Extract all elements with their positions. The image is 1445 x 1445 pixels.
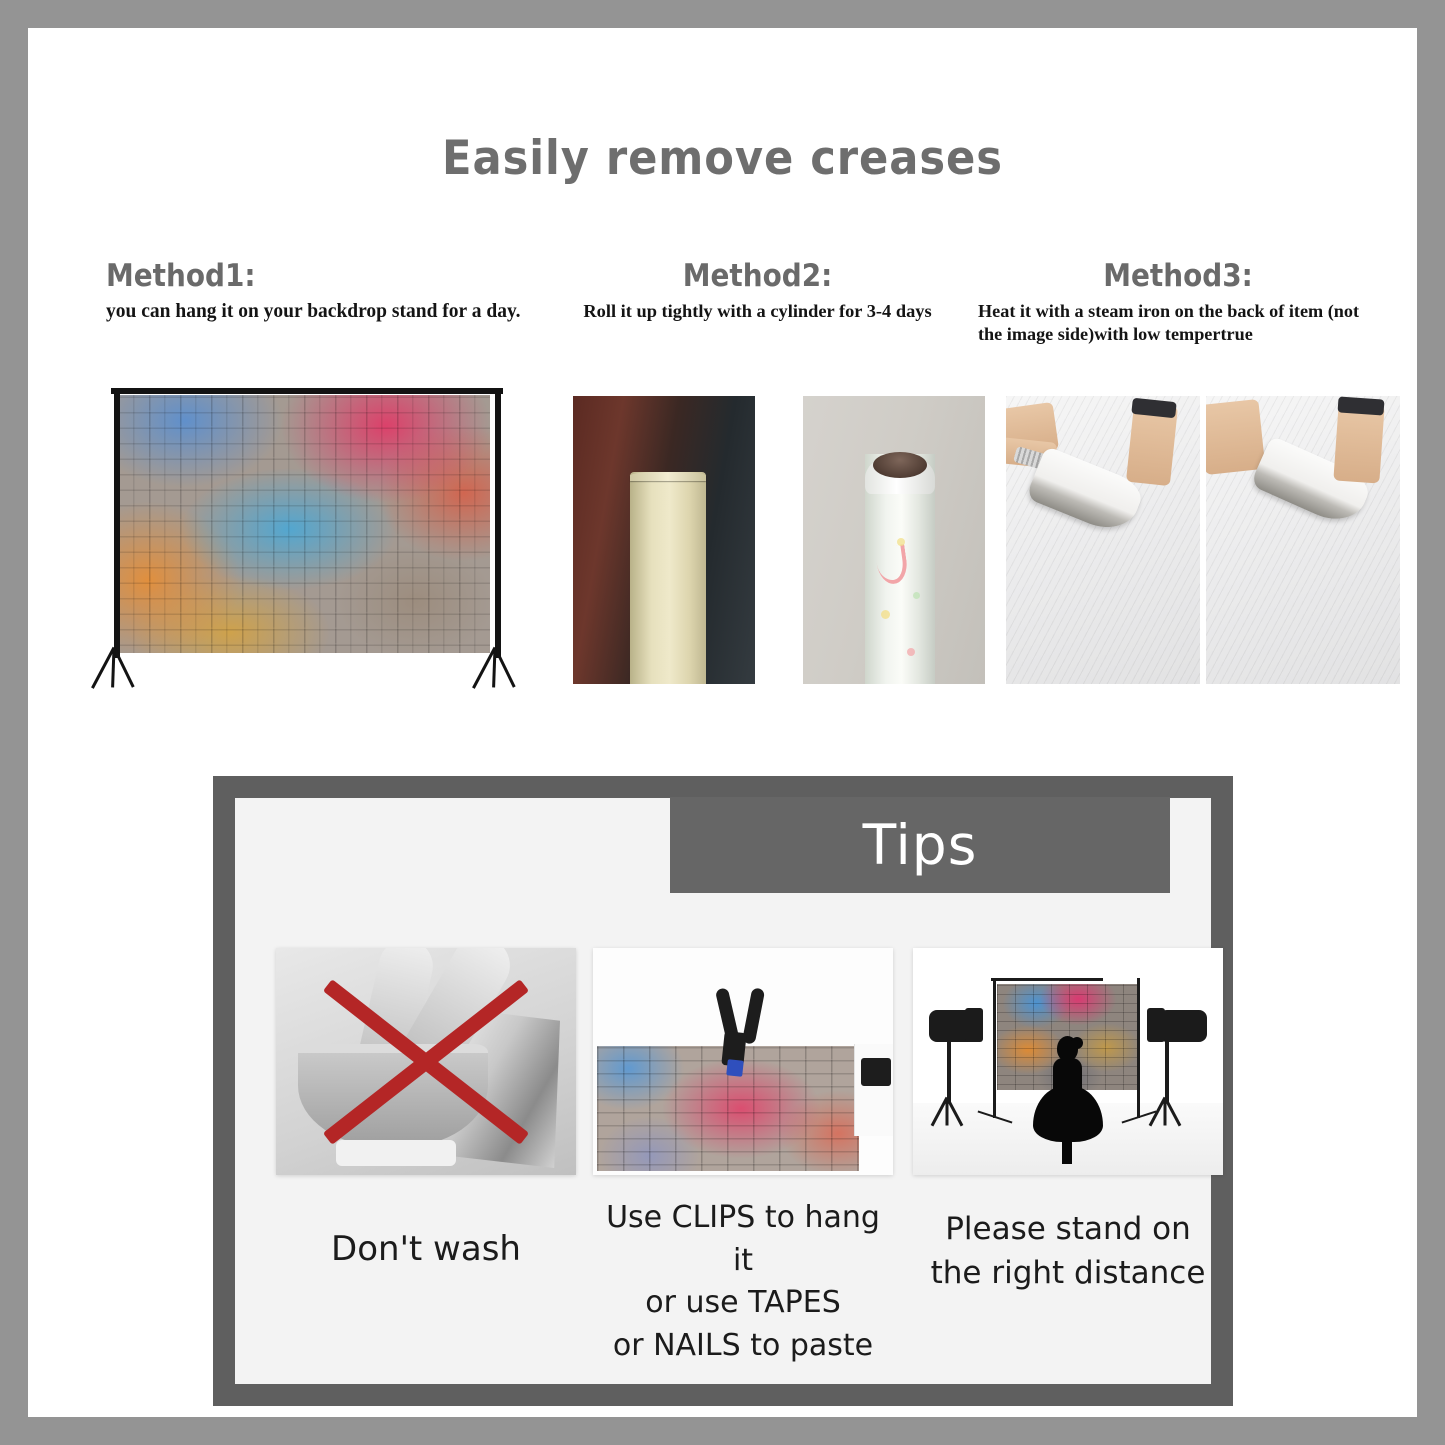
steam-iron-photo-left <box>1006 396 1200 684</box>
tip-3-caption-line: Please stand on <box>913 1207 1223 1251</box>
steam-iron-photo-right <box>1206 396 1400 684</box>
studio-light-left <box>921 1010 997 1140</box>
hand-washing-basin-crossed-out <box>276 948 576 1175</box>
tip-stand-distance: Please stand on the right distance <box>913 948 1223 1295</box>
method-2-block: Method2: Roll it up tightly with a cylin… <box>540 258 975 324</box>
tip-1-caption: Don't wash <box>276 1225 576 1273</box>
clip-tip <box>726 1059 744 1077</box>
tip-use-clips: Use CLIPS to hang it or use TAPES or NAI… <box>593 948 893 1367</box>
studio-setup-with-model <box>913 948 1223 1175</box>
method-1-description: you can hang it on your backdrop stand f… <box>106 300 536 325</box>
tips-banner-label: Tips <box>863 813 978 877</box>
tip-2-caption-line: or NAILS to paste <box>593 1325 893 1368</box>
stand-left-pole <box>114 388 120 658</box>
backdrop-stand-photo <box>78 378 548 708</box>
cylinder-photo-dark <box>573 396 755 684</box>
tip-2-caption-line: or use TAPES <box>593 1282 893 1325</box>
tip-2-caption-line: Use CLIPS to hang it <box>593 1197 893 1282</box>
tip-3-caption-line: the right distance <box>913 1251 1223 1295</box>
cylinder-photo-light <box>803 396 985 684</box>
basin-base <box>336 1140 456 1166</box>
method-1-heading: Method1: <box>106 258 493 294</box>
method-3-description: Heat it with a steam iron on the back of… <box>978 300 1378 347</box>
stand-right-tripod <box>459 646 539 698</box>
paper-tube <box>630 472 706 684</box>
stand-right-pole <box>495 388 501 658</box>
method-1-block: Method1: you can hang it on your backdro… <box>106 258 536 325</box>
stand-left-tripod <box>78 646 158 698</box>
stand-crossbar <box>111 388 503 394</box>
studio-light-right <box>1139 1010 1215 1140</box>
printer-edge <box>854 1044 893 1136</box>
model-silhouette <box>1029 1036 1105 1164</box>
tip-3-caption: Please stand on the right distance <box>913 1207 1223 1295</box>
stand-crossbar <box>991 978 1103 981</box>
tube-opening <box>873 452 927 478</box>
method-3-block: Method3: Heat it with a steam iron on th… <box>978 258 1378 347</box>
method-2-description: Roll it up tightly with a cylinder for 3… <box>540 300 975 324</box>
method-2-heading: Method2: <box>562 258 954 294</box>
method-3-heading: Method3: <box>998 258 1358 294</box>
brick-backdrop-image <box>118 395 490 653</box>
clip-on-brick-backdrop <box>593 948 893 1175</box>
tips-panel: Tips Don't wash <box>213 776 1233 1406</box>
tip-dont-wash: Don't wash <box>276 948 576 1273</box>
tips-banner: Tips <box>670 797 1170 893</box>
tip-2-caption: Use CLIPS to hang it or use TAPES or NAI… <box>593 1197 893 1367</box>
infographic-page: Easily remove creases Method1: you can h… <box>28 28 1417 1417</box>
page-title: Easily remove creases <box>84 131 1362 186</box>
